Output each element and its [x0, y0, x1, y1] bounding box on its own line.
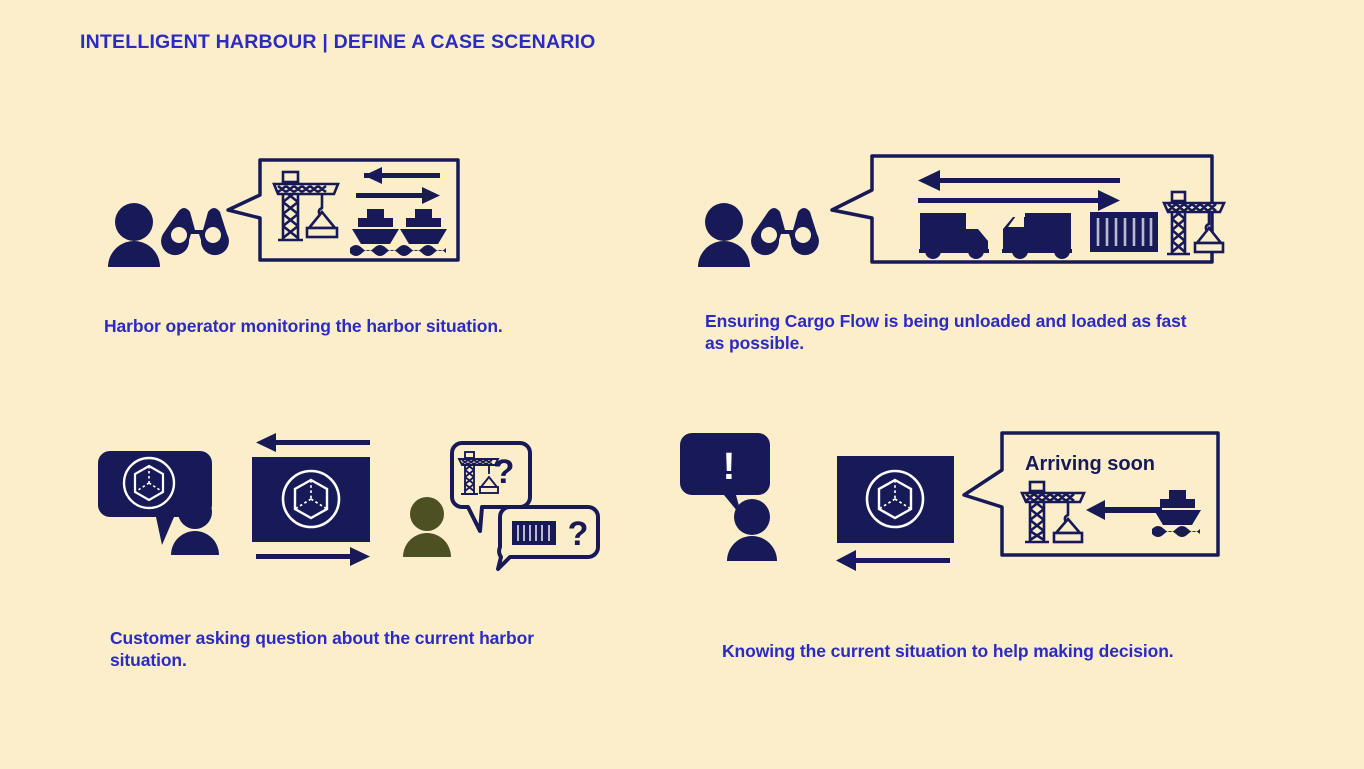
question-mark: ? — [494, 453, 515, 491]
person-olive-icon — [403, 497, 451, 557]
notice-text: Arriving soon — [1025, 453, 1155, 475]
person-icon — [727, 499, 777, 561]
person-icon — [698, 203, 750, 267]
scenario-board: INTELLIGENT HARBOUR | DEFINE A CASE SCEN… — [0, 0, 1364, 769]
truck-left-icon — [1002, 213, 1072, 259]
person-icon — [108, 203, 160, 267]
panel-decision: ! Arriving soon — [680, 425, 1240, 580]
binoculars-icon — [161, 208, 229, 255]
arrow-right-icon — [256, 547, 370, 566]
caption-customer: Customer asking question about the curre… — [110, 627, 560, 672]
truck-right-icon — [919, 213, 989, 259]
container-icon — [1090, 212, 1158, 252]
caption-decision: Knowing the current situation to help ma… — [722, 640, 1242, 662]
panel-customer: ? ? — [100, 425, 610, 580]
page-title: INTELLIGENT HARBOUR | DEFINE A CASE SCEN… — [80, 31, 596, 54]
binoculars-icon — [751, 208, 819, 255]
question-mark: ? — [568, 515, 589, 553]
panel-cargo-flow — [690, 150, 1230, 280]
arrow-left-icon — [256, 433, 370, 452]
panel-monitoring — [100, 150, 600, 280]
caption-cargo-flow: Ensuring Cargo Flow is being unloaded an… — [705, 310, 1205, 355]
alert-mark: ! — [723, 446, 736, 488]
arrow-left-icon — [836, 550, 950, 571]
caption-monitoring: Harbor operator monitoring the harbor si… — [104, 315, 624, 337]
container-icon — [512, 521, 556, 545]
